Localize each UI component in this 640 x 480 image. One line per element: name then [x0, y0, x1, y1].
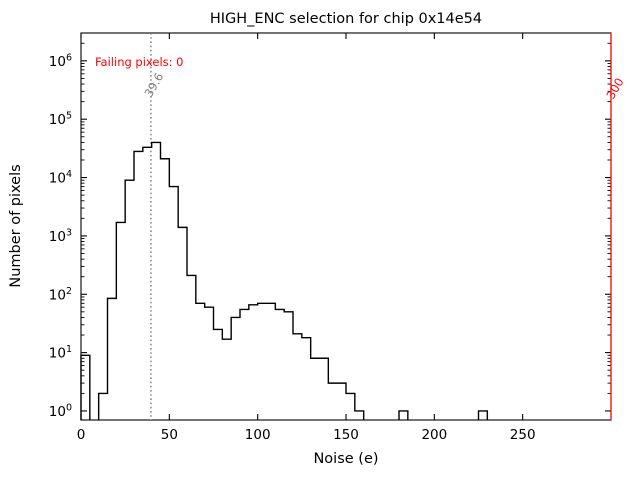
histogram-figure: HIGH_ENC selection for chip 0x14e54 1001… — [0, 0, 640, 480]
x-tick-label: 250 — [510, 427, 536, 443]
x-tick-label: 0 — [77, 427, 86, 443]
failing-pixels-annotation: Failing pixels: 0 — [95, 55, 184, 69]
x-tick-label: 100 — [245, 427, 271, 443]
x-tick-label: 50 — [161, 427, 178, 443]
page-title: HIGH_ENC selection for chip 0x14e54 — [210, 11, 482, 27]
x-tick-label: 150 — [333, 427, 359, 443]
x-axis-title: Noise (e) — [313, 451, 378, 467]
y-axis-title: Number of pixels — [8, 164, 24, 287]
figure-background — [0, 0, 640, 480]
x-tick-label: 200 — [421, 427, 447, 443]
